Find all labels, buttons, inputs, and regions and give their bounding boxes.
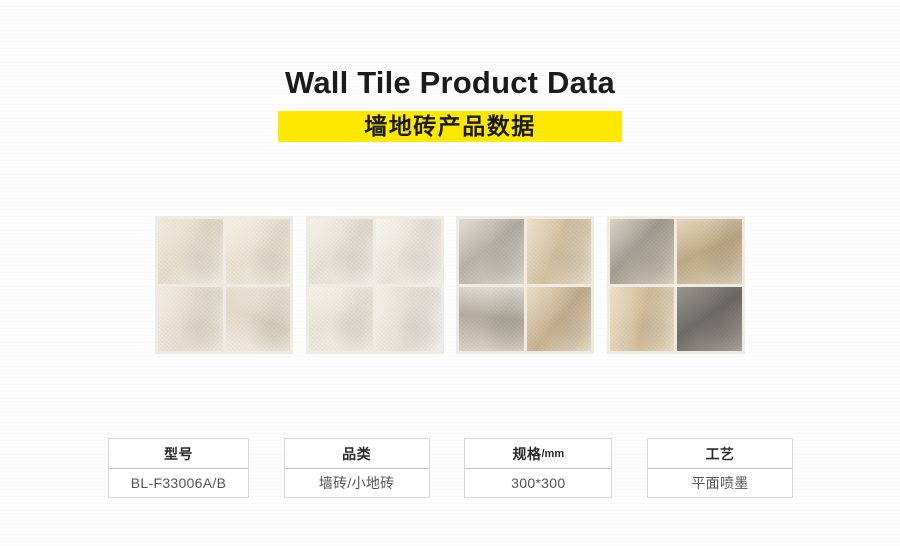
spec-value-category: 墙砖/小地砖	[285, 469, 429, 497]
spec-header-category: 品类	[285, 439, 429, 469]
tile-cell	[158, 287, 223, 352]
tile-cell	[677, 219, 742, 284]
spec-header-category-label: 品类	[342, 444, 371, 464]
tile-cell	[610, 219, 675, 284]
page-title-chinese: 墙地砖产品数据	[278, 111, 622, 142]
spec-header-process: 工艺	[648, 439, 792, 469]
spec-table: 型号 BL-F33006A/B 品类 墙砖/小地砖 规格/mm 300*300 …	[108, 438, 793, 498]
tile-swatch-2[interactable]	[306, 216, 444, 354]
spec-header-model: 型号	[109, 439, 248, 469]
tile-swatch-2-grid	[306, 216, 444, 354]
tile-cell	[610, 287, 675, 352]
tile-cell	[376, 287, 441, 352]
spec-header-size-label: 规格	[513, 444, 542, 464]
tile-cell	[376, 219, 441, 284]
tile-cell	[459, 287, 524, 352]
spec-header-model-label: 型号	[164, 444, 193, 464]
spec-card-model: 型号 BL-F33006A/B	[108, 438, 249, 498]
product-data-page: Wall Tile Product Data 墙地砖产品数据	[0, 0, 900, 546]
tile-swatch-1-grid	[155, 216, 293, 354]
tile-cell	[158, 219, 223, 284]
spec-value-size: 300*300	[465, 469, 611, 497]
tile-cell	[527, 287, 592, 352]
tile-cell	[527, 219, 592, 284]
page-subtitle-container: 墙地砖产品数据	[0, 111, 900, 142]
tile-swatch-4[interactable]	[607, 216, 745, 354]
tile-cell	[226, 287, 291, 352]
tile-cell	[226, 219, 291, 284]
tile-cell	[309, 219, 374, 284]
spec-header-size-unit: /mm	[542, 448, 565, 460]
page-title-english: Wall Tile Product Data	[0, 64, 900, 102]
spec-card-process: 工艺 平面喷墨	[647, 438, 793, 498]
spec-value-process: 平面喷墨	[648, 469, 792, 497]
spec-header-process-label: 工艺	[705, 444, 734, 464]
spec-header-size: 规格/mm	[465, 439, 611, 469]
tile-swatch-3-grid	[456, 216, 594, 354]
tile-swatch-3[interactable]	[456, 216, 594, 354]
spec-value-model: BL-F33006A/B	[109, 469, 248, 497]
tile-swatch-1[interactable]	[155, 216, 293, 354]
tile-swatch-gallery	[155, 216, 745, 354]
tile-cell	[677, 287, 742, 352]
tile-cell	[309, 287, 374, 352]
tile-cell	[459, 219, 524, 284]
spec-card-category: 品类 墙砖/小地砖	[284, 438, 430, 498]
tile-swatch-4-grid	[607, 216, 745, 354]
spec-card-size: 规格/mm 300*300	[464, 438, 612, 498]
